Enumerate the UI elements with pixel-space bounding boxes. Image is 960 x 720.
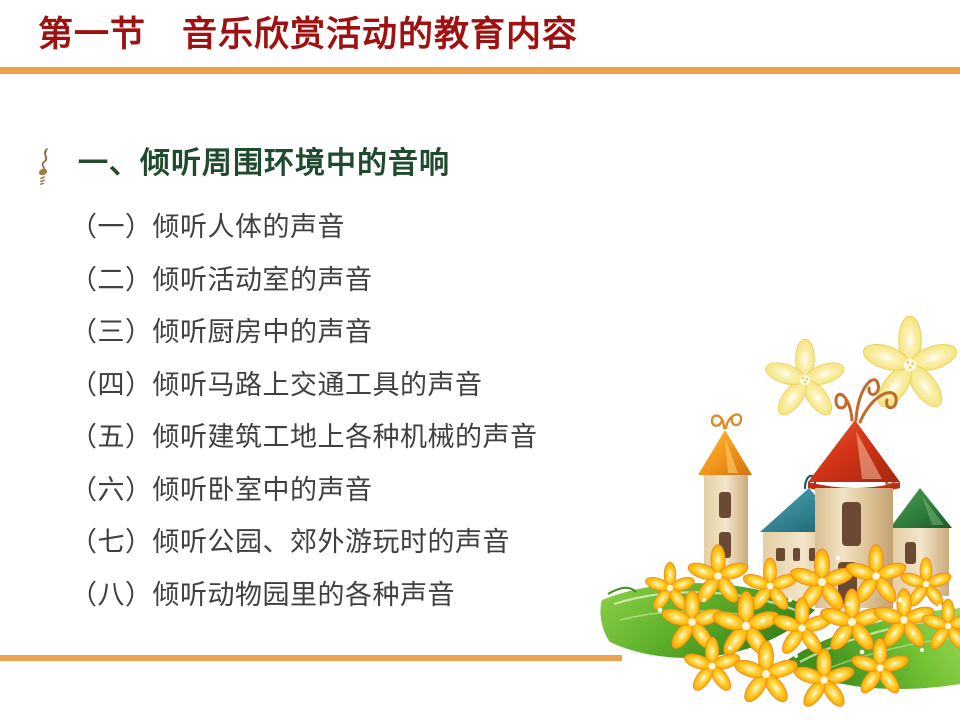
page-title: 第一节 音乐欣赏活动的教育内容	[38, 12, 578, 58]
slide-header: 第一节 音乐欣赏活动的教育内容	[0, 0, 960, 70]
list-item: （五）倾听建筑工地上各种机械的声音	[70, 412, 710, 465]
presentation-slide: 第一节 音乐欣赏活动的教育内容 一、倾	[0, 0, 960, 720]
list-item: （四）倾听马路上交通工具的声音	[70, 360, 710, 413]
section-heading-row: 一、倾听周围环境中的音响	[34, 142, 450, 190]
section-heading: 一、倾听周围环境中的音响	[78, 142, 450, 186]
list-item: （三）倾听厨房中的声音	[70, 307, 710, 360]
list-item: （一）倾听人体的声音	[70, 202, 710, 255]
content-list: （一）倾听人体的声音 （二）倾听活动室的声音 （三）倾听厨房中的声音 （四）倾听…	[70, 202, 710, 622]
music-note-ornament-icon	[34, 146, 60, 190]
list-item: （七）倾听公园、郊外游玩时的声音	[70, 517, 710, 570]
list-item: （六）倾听卧室中的声音	[70, 465, 710, 518]
slide-body: 一、倾听周围环境中的音响 （一）倾听人体的声音 （二）倾听活动室的声音 （三）倾…	[0, 70, 960, 655]
footer-divider-rule	[0, 655, 622, 661]
list-item: （二）倾听活动室的声音	[70, 255, 710, 308]
list-item: （八）倾听动物园里的各种声音	[70, 570, 710, 623]
